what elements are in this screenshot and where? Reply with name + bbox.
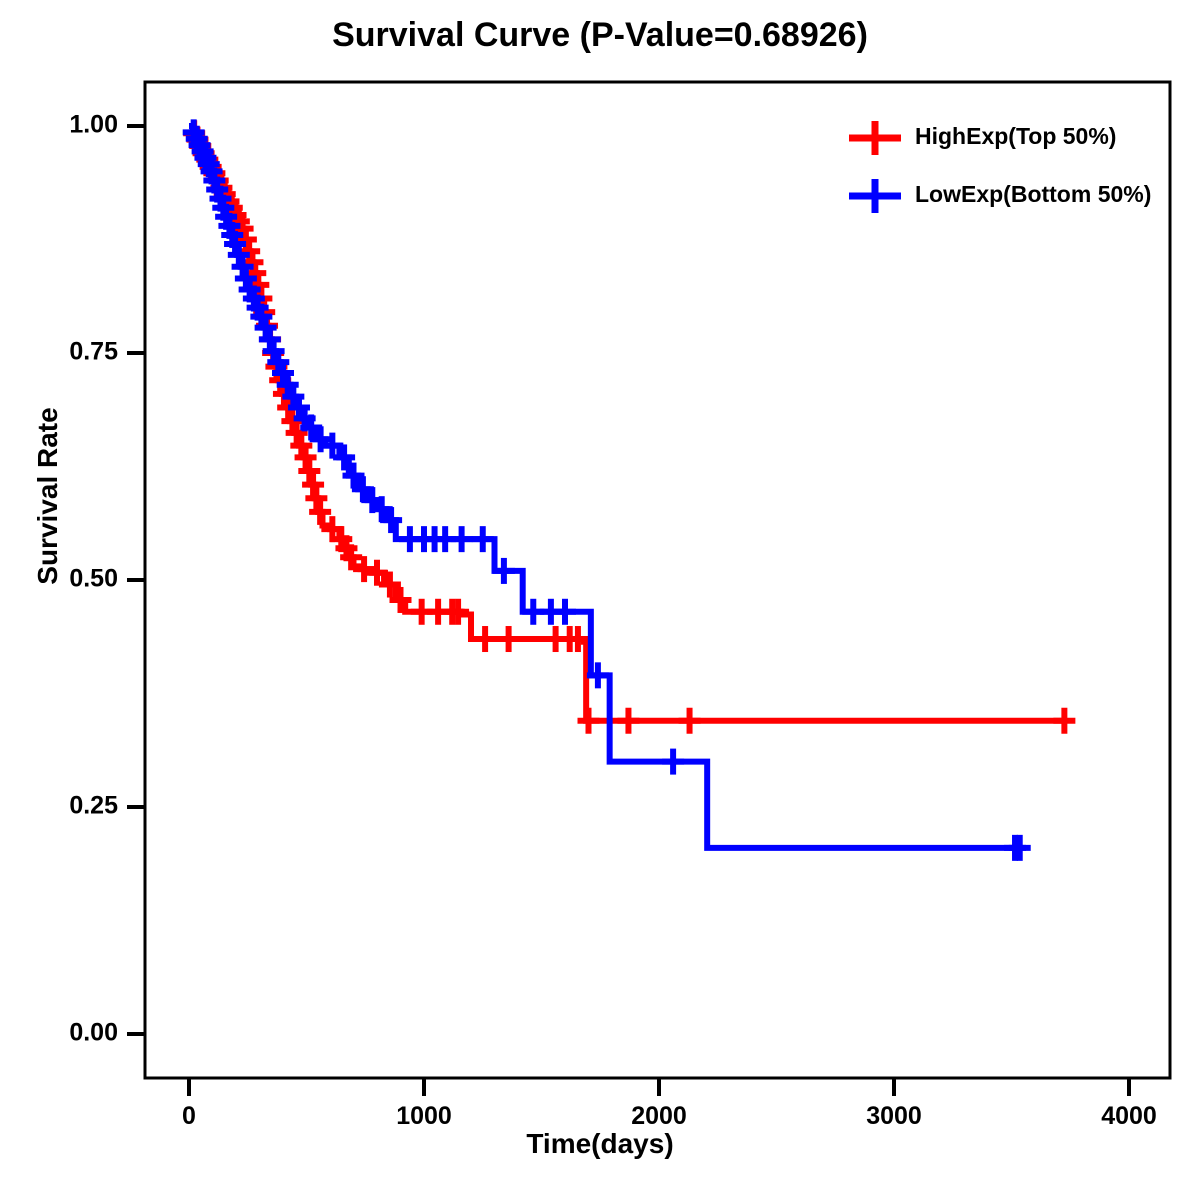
legend-item-high-exp[interactable]: HighExp(Top 50%) xyxy=(849,121,1116,155)
y-tick-label: 0.00 xyxy=(69,1019,118,1047)
chart-legend[interactable]: HighExp(Top 50%)LowExp(Bottom 50%) xyxy=(849,121,1151,213)
y-tick-label: 0.50 xyxy=(69,565,118,593)
x-tick-label: 1000 xyxy=(396,1102,452,1130)
y-tick-label: 0.25 xyxy=(69,792,118,820)
legend-label: LowExp(Bottom 50%) xyxy=(915,181,1151,207)
x-tick-label: 4000 xyxy=(1101,1102,1157,1130)
legend-item-low-exp[interactable]: LowExp(Bottom 50%) xyxy=(849,179,1151,213)
survival-curve-figure: Survival Curve (P-Value=0.68926) Surviva… xyxy=(0,0,1200,1200)
y-tick-label: 1.00 xyxy=(69,111,118,139)
series-layer xyxy=(183,119,1076,861)
legend-label: HighExp(Top 50%) xyxy=(915,123,1116,149)
step-line xyxy=(189,126,1064,721)
plot-area: 0.000.250.500.751.00 01000200030004000 H… xyxy=(0,0,1200,1200)
x-axis-ticks: 01000200030004000 xyxy=(182,1078,1157,1130)
plot-frame xyxy=(145,82,1170,1078)
x-tick-label: 2000 xyxy=(631,1102,687,1130)
x-tick-label: 0 xyxy=(182,1102,196,1130)
y-tick-label: 0.75 xyxy=(69,338,118,366)
y-axis-ticks: 0.000.250.500.751.00 xyxy=(69,111,145,1047)
x-tick-label: 3000 xyxy=(866,1102,922,1130)
series-low-exp xyxy=(183,119,1031,861)
